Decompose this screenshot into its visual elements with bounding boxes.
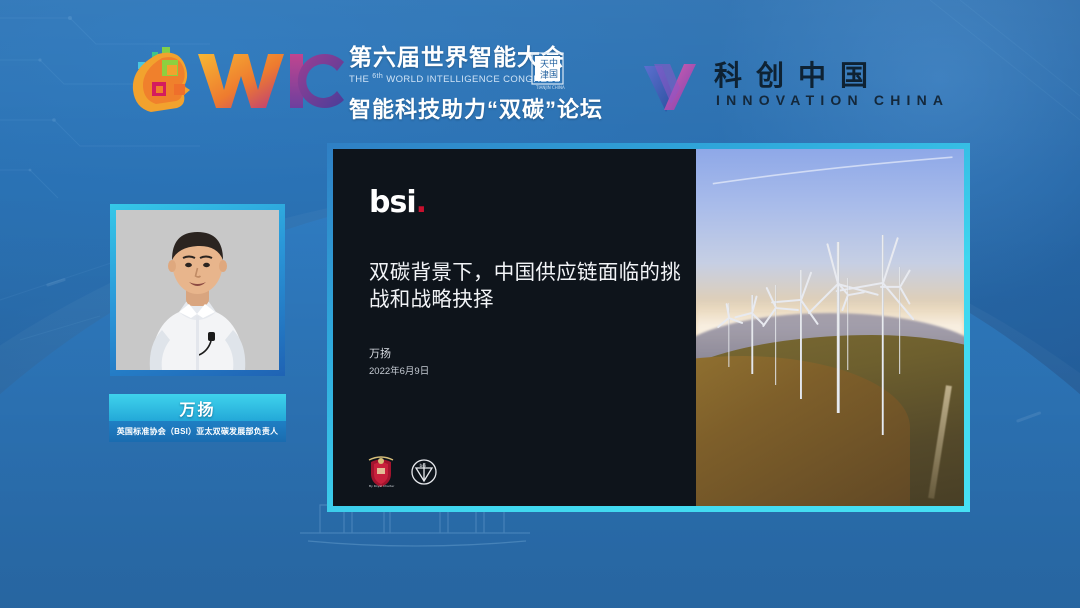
wind-turbine [720,303,738,367]
wic-logo [122,38,347,118]
innovation-china-en: INNOVATION CHINA [716,92,949,108]
presentation-slide-frame: bsi. 双碳背景下，中国供应链面临的挑战和战略抉择 万扬 2022年6月9日 … [327,143,970,512]
wic-wordmark [198,54,344,108]
speaker-title-band: 英国标准协会（BSI）亚太双碳发展部负责人 [109,421,286,442]
slide-byline: 万扬 2022年6月9日 [369,345,429,380]
bsi-kitemark-icon: bsi [411,459,437,485]
svg-text:国: 国 [549,69,558,80]
speaker-name: 万扬 [179,396,215,420]
innovation-china-cn: 科创中国 [714,54,882,94]
wind-turbine [889,267,911,374]
slide-image-pane [696,149,964,506]
speaker-video-tile [110,204,285,376]
presentation-slide: bsi. 双碳背景下，中国供应链面临的挑战和战略抉择 万扬 2022年6月9日 … [333,149,964,506]
wind-turbine [741,295,763,374]
slide-date: 2022年6月9日 [369,364,429,380]
tianjin-china-badge: 天 中 津 国 TIANJIN CHINA [531,52,568,92]
bsi-logo: bsi. [369,185,426,220]
speaker-name-plate: 万扬 英国标准协会（BSI）亚太双碳发展部负责人 [109,394,286,442]
innovation-china-logo: 科创中国 INNOVATION CHINA [640,52,960,120]
svg-text:津: 津 [540,70,549,81]
event-header: 第六届世界智能大会 THE 6th WORLD INTELLIGENCE CON… [0,0,1080,150]
wic-mosaic-head [133,47,190,112]
slide-accreditation-marks: By Royal Charter bsi [367,456,437,488]
svg-text:中: 中 [549,57,558,69]
svg-text:bsi: bsi [420,463,426,469]
innovation-china-mark-icon [640,58,702,116]
bsi-logo-dot: . [416,185,426,220]
speaker-photo [116,210,279,370]
wind-turbine [784,270,818,399]
wind-turbine [838,278,858,371]
royal-charter-crest-icon: By Royal Charter [367,456,395,488]
svg-text:TIANJIN CHINA: TIANJIN CHINA [535,85,565,90]
speaker-title: 英国标准协会（BSI）亚太双碳发展部负责人 [117,426,279,437]
slide-text-pane: bsi. 双碳背景下，中国供应链面临的挑战和战略抉择 万扬 2022年6月9日 … [333,149,696,506]
wind-turbine [763,285,789,385]
forum-title-cn: 智能科技助力“双碳”论坛 [349,92,599,124]
speaker-portrait-illustration [116,210,279,370]
slide-author-name: 万扬 [369,345,429,364]
speaker-name-band: 万扬 [109,394,286,421]
slide-title: 双碳背景下，中国供应链面临的挑战和战略抉择 [369,259,689,313]
svg-text:天: 天 [540,60,549,70]
broadcast-screen: 第六届世界智能大会 THE 6th WORLD INTELLIGENCE CON… [0,0,1080,608]
svg-text:By Royal Charter: By Royal Charter [369,484,395,488]
